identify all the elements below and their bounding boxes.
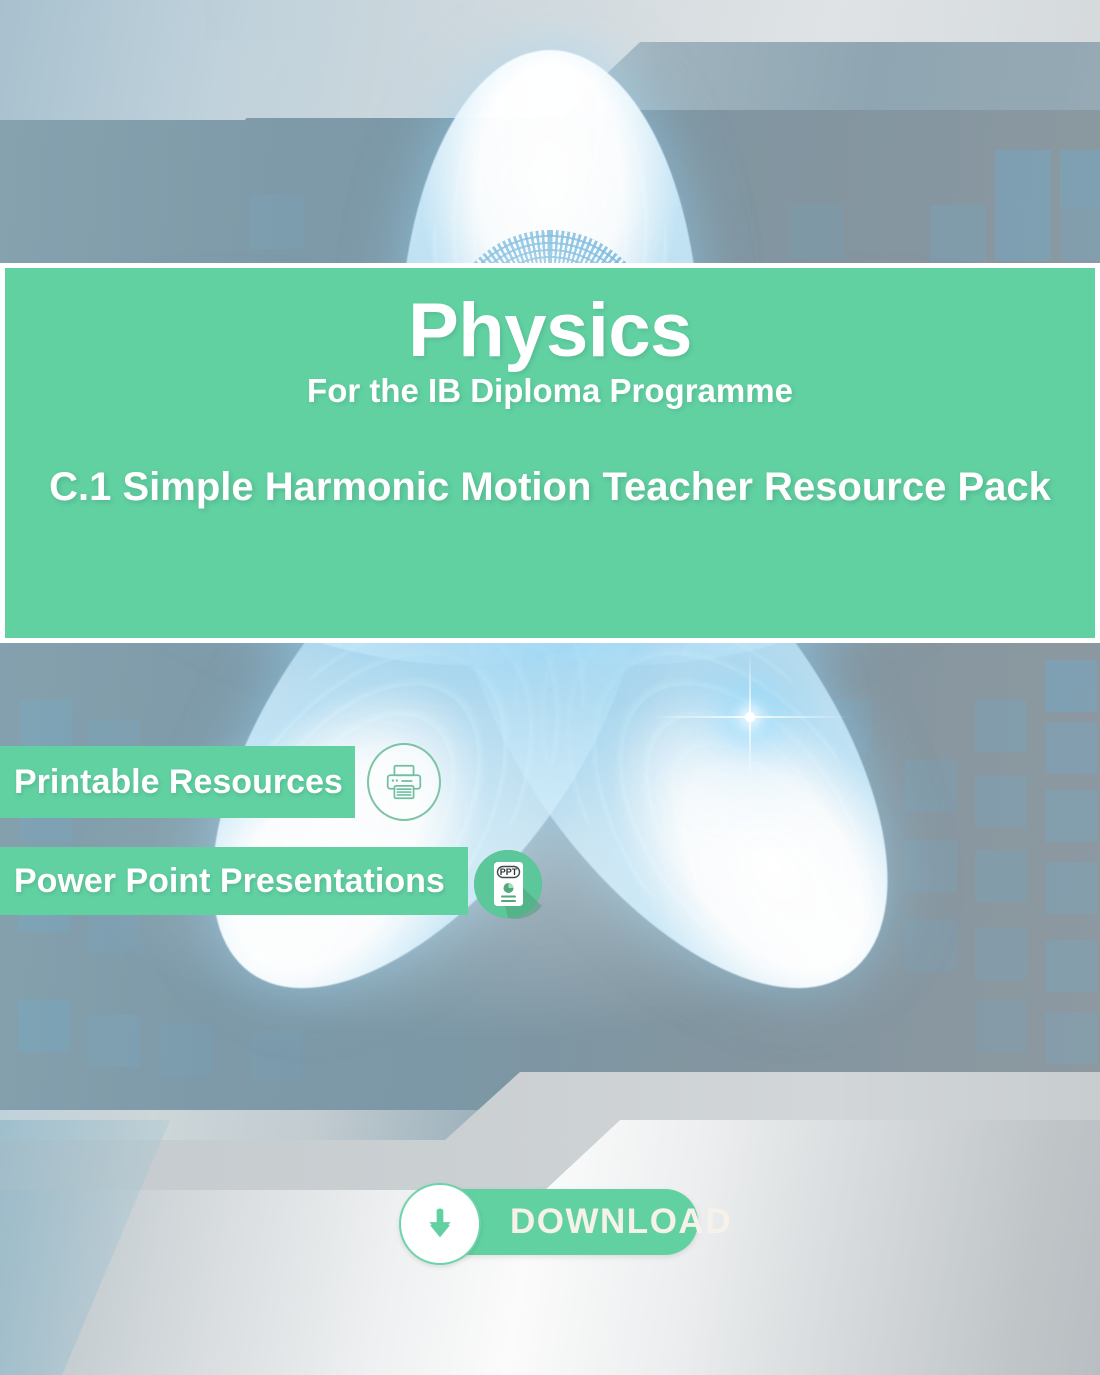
feature-badge-label: Printable Resources	[0, 765, 343, 799]
ppt-file-icon: PPT	[472, 848, 544, 920]
download-button[interactable]: DOWNLOAD	[406, 1189, 698, 1255]
feature-badge-printable-resources[interactable]: Printable Resources	[0, 746, 355, 818]
svg-text:PPT: PPT	[500, 867, 518, 877]
download-arrow-icon[interactable]	[399, 1183, 481, 1265]
poster-root: Physics For the IB Diploma Programme C.1…	[0, 0, 1100, 1375]
title-banner: Physics For the IB Diploma Programme C.1…	[0, 263, 1100, 643]
page-title: Physics	[408, 292, 692, 370]
page-subtitle: For the IB Diploma Programme	[307, 372, 793, 410]
resource-pack-title: C.1 Simple Harmonic Motion Teacher Resou…	[49, 458, 1051, 516]
download-button-label: DOWNLOAD	[510, 1202, 732, 1242]
feature-badge-powerpoint-presentations[interactable]: Power Point Presentations	[0, 847, 468, 915]
decor-light-flare	[745, 712, 755, 722]
feature-badge-label: Power Point Presentations	[0, 864, 445, 898]
printer-icon	[367, 745, 441, 819]
